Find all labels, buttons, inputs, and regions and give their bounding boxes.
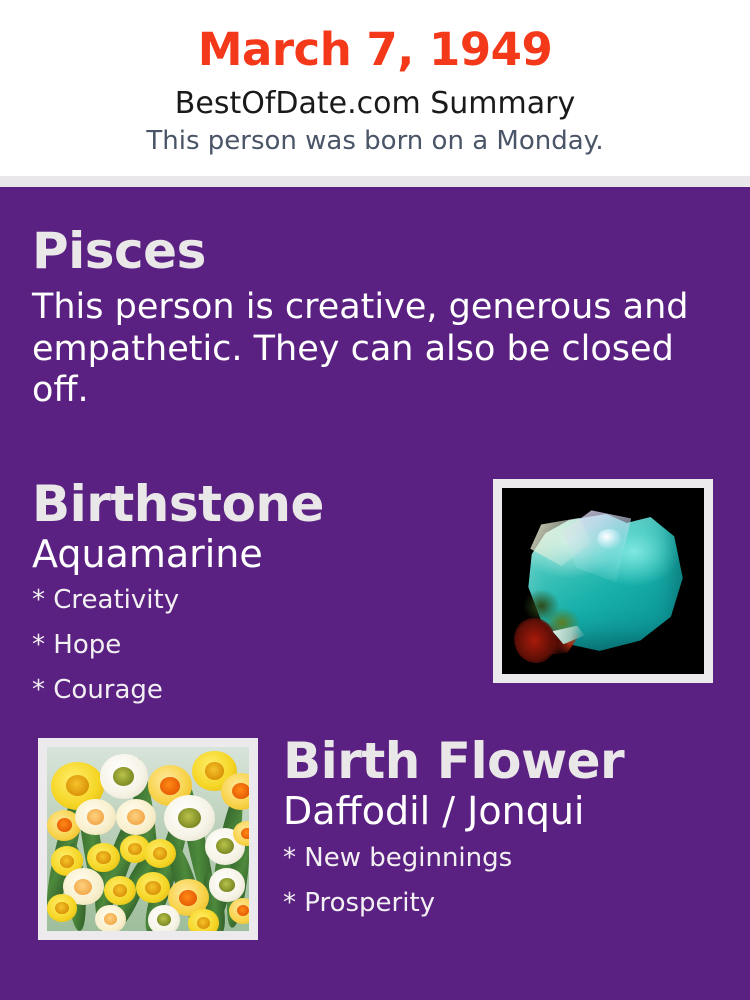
birth-day-subtitle: This person was born on a Monday. [0, 126, 750, 157]
birthstone-trait: * Creativity [32, 587, 179, 613]
corona-icon [127, 809, 145, 825]
zodiac-sign-heading: Pisces [32, 226, 206, 276]
daffodil-bloom-icon [100, 754, 148, 798]
birth-flower-trait: * Prosperity [283, 890, 435, 916]
corona-icon [160, 777, 180, 795]
birthstone-image [502, 488, 704, 674]
corona-icon [60, 855, 74, 868]
corona-icon [96, 851, 110, 864]
daffodil-bloom-icon [116, 799, 156, 836]
birth-flower-image [47, 747, 249, 931]
daffodil-bloom-icon [87, 843, 119, 872]
daffodil-bloom-icon [47, 894, 77, 922]
corona-icon [197, 917, 210, 929]
corona-icon [87, 809, 105, 825]
daffodil-bloom-icon [164, 795, 215, 841]
zodiac-description: This person is creative, generous and em… [32, 287, 712, 412]
birth-flower-trait: * New beginnings [283, 845, 512, 871]
corona-icon [113, 884, 127, 897]
site-name: BestOfDate.com Summary [0, 86, 750, 122]
corona-icon [178, 808, 200, 828]
daffodil-bloom-icon [75, 799, 115, 836]
corona-icon [74, 879, 92, 895]
header-divider [0, 176, 750, 187]
corona-icon [241, 828, 249, 839]
daffodil-bloom-icon [148, 905, 180, 931]
page-title-date: March 7, 1949 [0, 24, 750, 76]
content-panel: Pisces This person is creative, generous… [0, 187, 750, 1000]
daffodil-bloom-icon [229, 898, 249, 924]
daffodil-bloom-icon [209, 868, 245, 901]
card-header: March 7, 1949 BestOfDate.com Summary Thi… [0, 0, 750, 176]
birthstone-name: Aquamarine [32, 535, 263, 573]
corona-icon [57, 818, 72, 832]
birthstone-image-frame [493, 479, 713, 683]
corona-icon [216, 838, 234, 854]
birth-flower-heading: Birth Flower [283, 736, 624, 786]
summary-card: March 7, 1949 BestOfDate.com Summary Thi… [0, 0, 750, 1000]
corona-icon [145, 881, 160, 895]
birthstone-trait: * Hope [32, 632, 121, 658]
corona-icon [55, 902, 68, 914]
daffodil-bloom-icon [95, 905, 125, 931]
corona-icon [66, 775, 89, 796]
gem-inclusion-icon [514, 618, 554, 663]
corona-icon [219, 878, 235, 893]
corona-icon [205, 762, 225, 780]
daffodil-bloom-icon [104, 876, 136, 905]
birthstone-trait: * Courage [32, 677, 163, 703]
corona-icon [128, 843, 141, 855]
corona-icon [232, 783, 249, 799]
birth-flower-image-frame [38, 738, 258, 940]
daffodil-bloom-icon [188, 909, 218, 931]
corona-icon [179, 890, 197, 906]
birthstone-heading: Birthstone [32, 479, 324, 529]
birth-flower-name: Daffodil / Jonqui [283, 792, 584, 830]
